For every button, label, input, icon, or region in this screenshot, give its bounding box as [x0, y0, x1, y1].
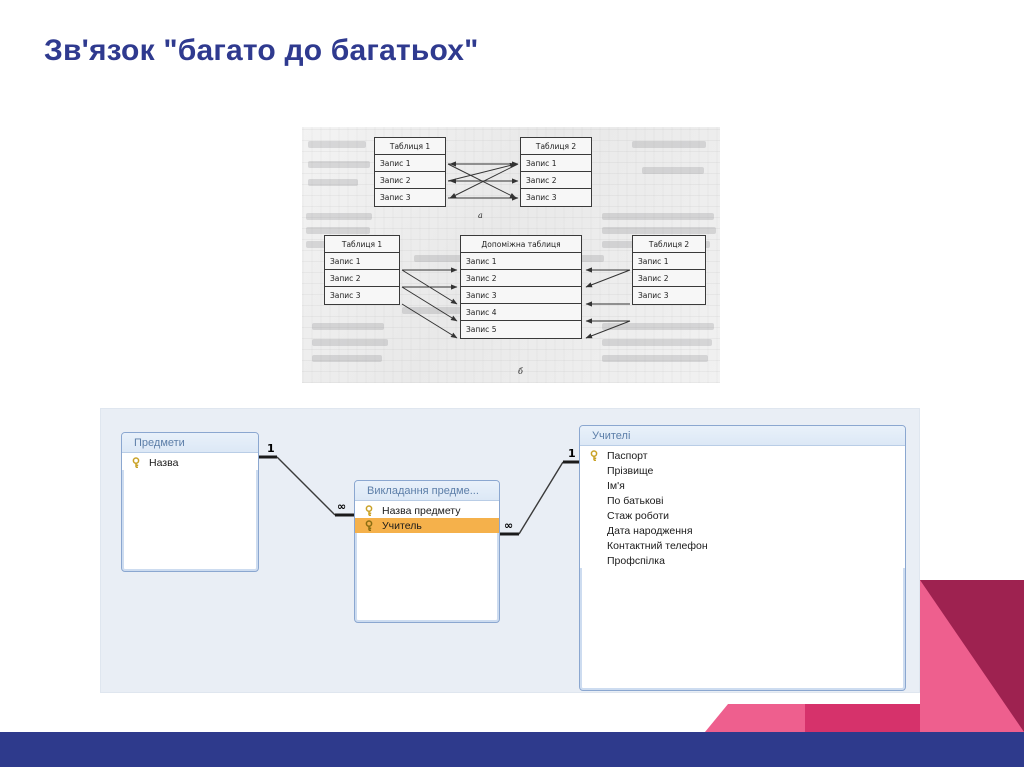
scan-ghost-text [602, 339, 712, 346]
field-row[interactable]: Назва предмету [355, 503, 499, 518]
table-title-uchyteli[interactable]: Учителі [580, 426, 905, 446]
field-label: Прізвище [607, 465, 653, 477]
cardinality-label-one-left: 1 [267, 443, 275, 454]
cardinality-label-one-right: 1 [568, 448, 576, 459]
field-row-selected[interactable]: Учитель [355, 518, 499, 533]
scan-ghost-text [308, 161, 370, 168]
scan-ghost-text [602, 323, 714, 330]
figure-table-row: Запис 2 [521, 172, 591, 189]
figure-table-row: Запис 1 [633, 253, 705, 270]
figure-table-row: Запис 3 [325, 287, 399, 304]
scan-ghost-text [308, 179, 358, 186]
figure-a-right-table: Таблиця 2 Запис 1 Запис 2 Запис 3 [520, 137, 592, 207]
field-label: Ім'я [607, 480, 625, 492]
figure-table-row: Запис 3 [633, 287, 705, 304]
field-icon-placeholder [590, 480, 602, 492]
figure-table-header: Таблиця 2 [633, 236, 705, 253]
figure-b-left-table: Таблиця 1 Запис 1 Запис 2 Запис 3 [324, 235, 400, 305]
figure-table-row: Запис 3 [461, 287, 581, 304]
scan-ghost-text [602, 355, 708, 362]
figure-table-row: Запис 1 [325, 253, 399, 270]
magenta-band [805, 704, 920, 732]
scan-ghost-text [312, 323, 384, 330]
figure-table-row: Запис 4 [461, 304, 581, 321]
field-label: Профспілка [607, 555, 665, 567]
field-row[interactable]: По батькові [580, 493, 905, 508]
table-box-predmety[interactable]: Предмети Назва [121, 432, 259, 572]
field-row[interactable]: Назва [122, 455, 258, 470]
cardinality-label-many-right: ∞ [504, 520, 513, 531]
scanned-figure: Таблиця 1 Запис 1 Запис 2 Запис 3 Таблиц… [302, 127, 720, 383]
scan-ghost-text [602, 227, 716, 234]
figure-a-left-table: Таблиця 1 Запис 1 Запис 2 Запис 3 [374, 137, 446, 207]
table-title-predmety[interactable]: Предмети [122, 433, 258, 453]
figure-table-header: Таблиця 2 [521, 138, 591, 155]
figure-table-row: Запис 2 [375, 172, 445, 189]
scan-ghost-text [312, 339, 388, 346]
field-icon-placeholder [590, 540, 602, 552]
primary-key-icon [132, 457, 144, 469]
scan-ghost-text [632, 141, 706, 148]
figure-table-row: Запис 1 [461, 253, 581, 270]
field-icon-placeholder [590, 510, 602, 522]
field-icon-placeholder [590, 555, 602, 567]
figure-table-row: Запис 1 [375, 155, 445, 172]
field-row[interactable]: Дата народження [580, 523, 905, 538]
maroon-triangle-shape [920, 580, 1024, 732]
field-label: Учитель [382, 520, 422, 532]
field-label: Стаж роботи [607, 510, 669, 522]
scan-ghost-text [642, 167, 704, 174]
field-row[interactable]: Стаж роботи [580, 508, 905, 523]
pink-triangle-shape [920, 580, 1024, 732]
table-fields-uchyteli: Паспорт Прізвище Ім'я По батькові Стаж р… [580, 446, 905, 568]
figure-b-middle-table: Допоміжна таблиця Запис 1 Запис 2 Запис … [460, 235, 582, 339]
field-icon-placeholder [590, 465, 602, 477]
figure-table-row: Запис 2 [461, 270, 581, 287]
field-label: Назва предмету [382, 505, 460, 517]
figure-table-row: Запис 1 [521, 155, 591, 172]
navy-footer-bar [0, 732, 1024, 767]
field-row[interactable]: Ім'я [580, 478, 905, 493]
scan-ghost-text [312, 355, 382, 362]
field-row[interactable]: Паспорт [580, 448, 905, 463]
figure-table-row: Запис 3 [375, 189, 445, 206]
scan-ghost-text [306, 213, 372, 220]
table-fields-predmety: Назва [122, 453, 258, 470]
figure-table-row: Запис 2 [633, 270, 705, 287]
figure-caption-a: а [478, 211, 483, 220]
primary-key-icon [590, 450, 602, 462]
pink-band-left [705, 704, 920, 732]
figure-table-row: Запис 2 [325, 270, 399, 287]
relationships-canvas[interactable]: 1 ∞ ∞ 1 Предмети Назва Викладання предме… [100, 408, 920, 693]
field-row[interactable]: Прізвище [580, 463, 905, 478]
table-fields-vykladannya: Назва предмету Учитель [355, 501, 499, 533]
field-row[interactable]: Контактний телефон [580, 538, 905, 553]
cardinality-label-many-left: ∞ [337, 501, 346, 512]
figure-caption-b: б [518, 367, 523, 376]
field-label: Назва [149, 457, 178, 469]
figure-table-header: Таблиця 1 [325, 236, 399, 253]
figure-table-row: Запис 3 [521, 189, 591, 206]
figure-table-row: Запис 5 [461, 321, 581, 338]
table-box-vykladannya[interactable]: Викладання предме... Назва предмету [354, 480, 500, 623]
primary-key-icon [365, 505, 377, 517]
field-label: По батькові [607, 495, 663, 507]
table-box-uchyteli[interactable]: Учителі Паспорт Прізвище Ім'я [579, 425, 906, 691]
field-label: Паспорт [607, 450, 648, 462]
field-icon-placeholder [590, 495, 602, 507]
scan-ghost-text [308, 141, 366, 148]
field-label: Контактний телефон [607, 540, 708, 552]
scan-ghost-text [306, 227, 370, 234]
scan-ghost-text [602, 213, 714, 220]
table-title-vykladannya[interactable]: Викладання предме... [355, 481, 499, 501]
page-title: Зв'язок "багато до багатьох" [44, 34, 479, 68]
figure-b-right-table: Таблиця 2 Запис 1 Запис 2 Запис 3 [632, 235, 706, 305]
primary-key-icon [365, 520, 377, 532]
field-icon-placeholder [590, 525, 602, 537]
figure-table-header: Таблиця 1 [375, 138, 445, 155]
figure-table-header: Допоміжна таблиця [461, 236, 581, 253]
field-row[interactable]: Профспілка [580, 553, 905, 568]
field-label: Дата народження [607, 525, 693, 537]
